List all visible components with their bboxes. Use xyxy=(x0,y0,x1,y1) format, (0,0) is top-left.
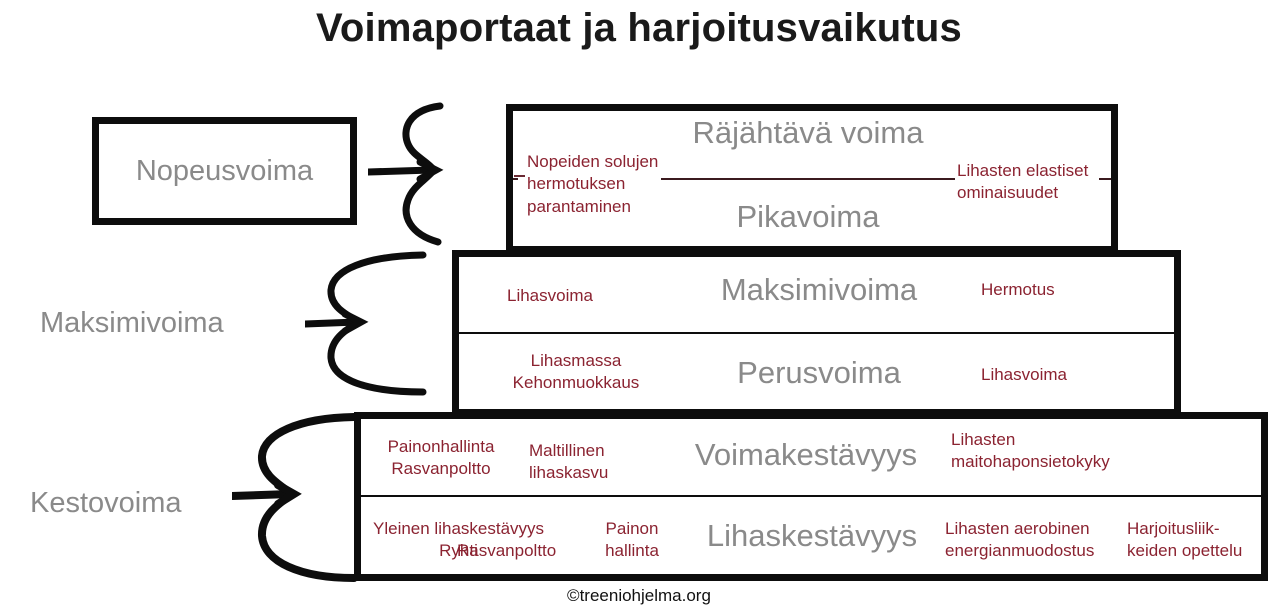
annotation-lihasvoima-perusvoima: Lihasvoima xyxy=(981,364,1067,386)
tier-name-maksimivoima: Maksimivoima xyxy=(634,272,1004,308)
annotation-lihasten-maitohaponsietokyky: Lihasten maitohaponsietokyky xyxy=(951,429,1110,474)
annotation-hermotus: Hermotus xyxy=(981,279,1055,301)
annotation-painon-hallinta: Painon hallinta xyxy=(589,518,675,563)
copyright-footer: ©treeniohjelma.org xyxy=(0,586,1278,606)
tier-name-lihaskestavyys: Lihaskestävyys xyxy=(679,518,945,554)
tier-bottom: Painonhallinta Rasvanpoltto Maltillinen … xyxy=(354,412,1268,581)
annotation-lihasmassa-kehonmuokkaus: Lihasmassa Kehonmuokkaus xyxy=(501,350,651,395)
diagram-canvas: Voimaportaat ja harjoitusvaikutus Nopeus… xyxy=(0,0,1278,614)
brace-kestovoima-icon xyxy=(232,412,362,587)
tier-name-rajahtava-voima: Räjähtävä voima xyxy=(661,115,955,151)
annotation-rasvanpoltto-lihaskestavyys: Rasvanpoltto xyxy=(457,540,556,562)
annotation-lihasten-aerobinen-energianmuodostus: Lihasten aerobinen energianmuodostus xyxy=(945,518,1094,563)
page-title: Voimaportaat ja harjoitusvaikutus xyxy=(0,6,1278,51)
tier-name-voimakestavyys: Voimakestävyys xyxy=(666,437,946,473)
tier-name-pikavoima: Pikavoima xyxy=(661,199,955,235)
annotation-nopeiden-solujen-hermotuksen-parantaminen: Nopeiden solujen hermotuksen parantamine… xyxy=(527,151,658,218)
annotation-maltillinen-lihaskasvu: Maltillinen lihaskasvu xyxy=(529,440,608,485)
brace-nopeusvoima-icon xyxy=(368,100,448,250)
annotation-lihasvoima-maksimivoima: Lihasvoima xyxy=(507,285,593,307)
stage-label-maksimivoima: Maksimivoima xyxy=(40,307,224,340)
stage-label-box-nopeusvoima: Nopeusvoima xyxy=(92,117,357,225)
annotation-harjoitusliikkeiden-opettelu: Harjoitusliik- keiden opettelu xyxy=(1127,518,1242,563)
brace-maksimivoima-icon xyxy=(305,250,435,400)
annotation-lihasten-elastiset-ominaisuudet: Lihasten elastiset ominaisuudet xyxy=(957,160,1088,205)
tier-row-lihaskestavyys: Yleinen lihaskestävyys Ryhti Rasvanpoltt… xyxy=(361,497,1261,575)
tier-row-voimakestavyys: Painonhallinta Rasvanpoltto Maltillinen … xyxy=(361,419,1261,497)
annotation-painonhallinta-rasvanpoltto: Painonhallinta Rasvanpoltto xyxy=(373,436,509,481)
tier-top: Räjähtävä voima Pikavoima Nopeiden soluj… xyxy=(506,104,1118,253)
stage-label-kestovoima: Kestovoima xyxy=(30,487,182,520)
tier-mid: Lihasvoima Maksimivoima Hermotus Lihasma… xyxy=(452,250,1181,416)
stage-label-nopeusvoima: Nopeusvoima xyxy=(136,155,313,188)
tier-row-maksimivoima: Lihasvoima Maksimivoima Hermotus xyxy=(459,257,1174,333)
tier-row-perusvoima: Lihasmassa Kehonmuokkaus Perusvoima Liha… xyxy=(459,333,1174,409)
tier-name-perusvoima: Perusvoima xyxy=(634,355,1004,391)
annotation-tick-icon xyxy=(514,175,525,177)
